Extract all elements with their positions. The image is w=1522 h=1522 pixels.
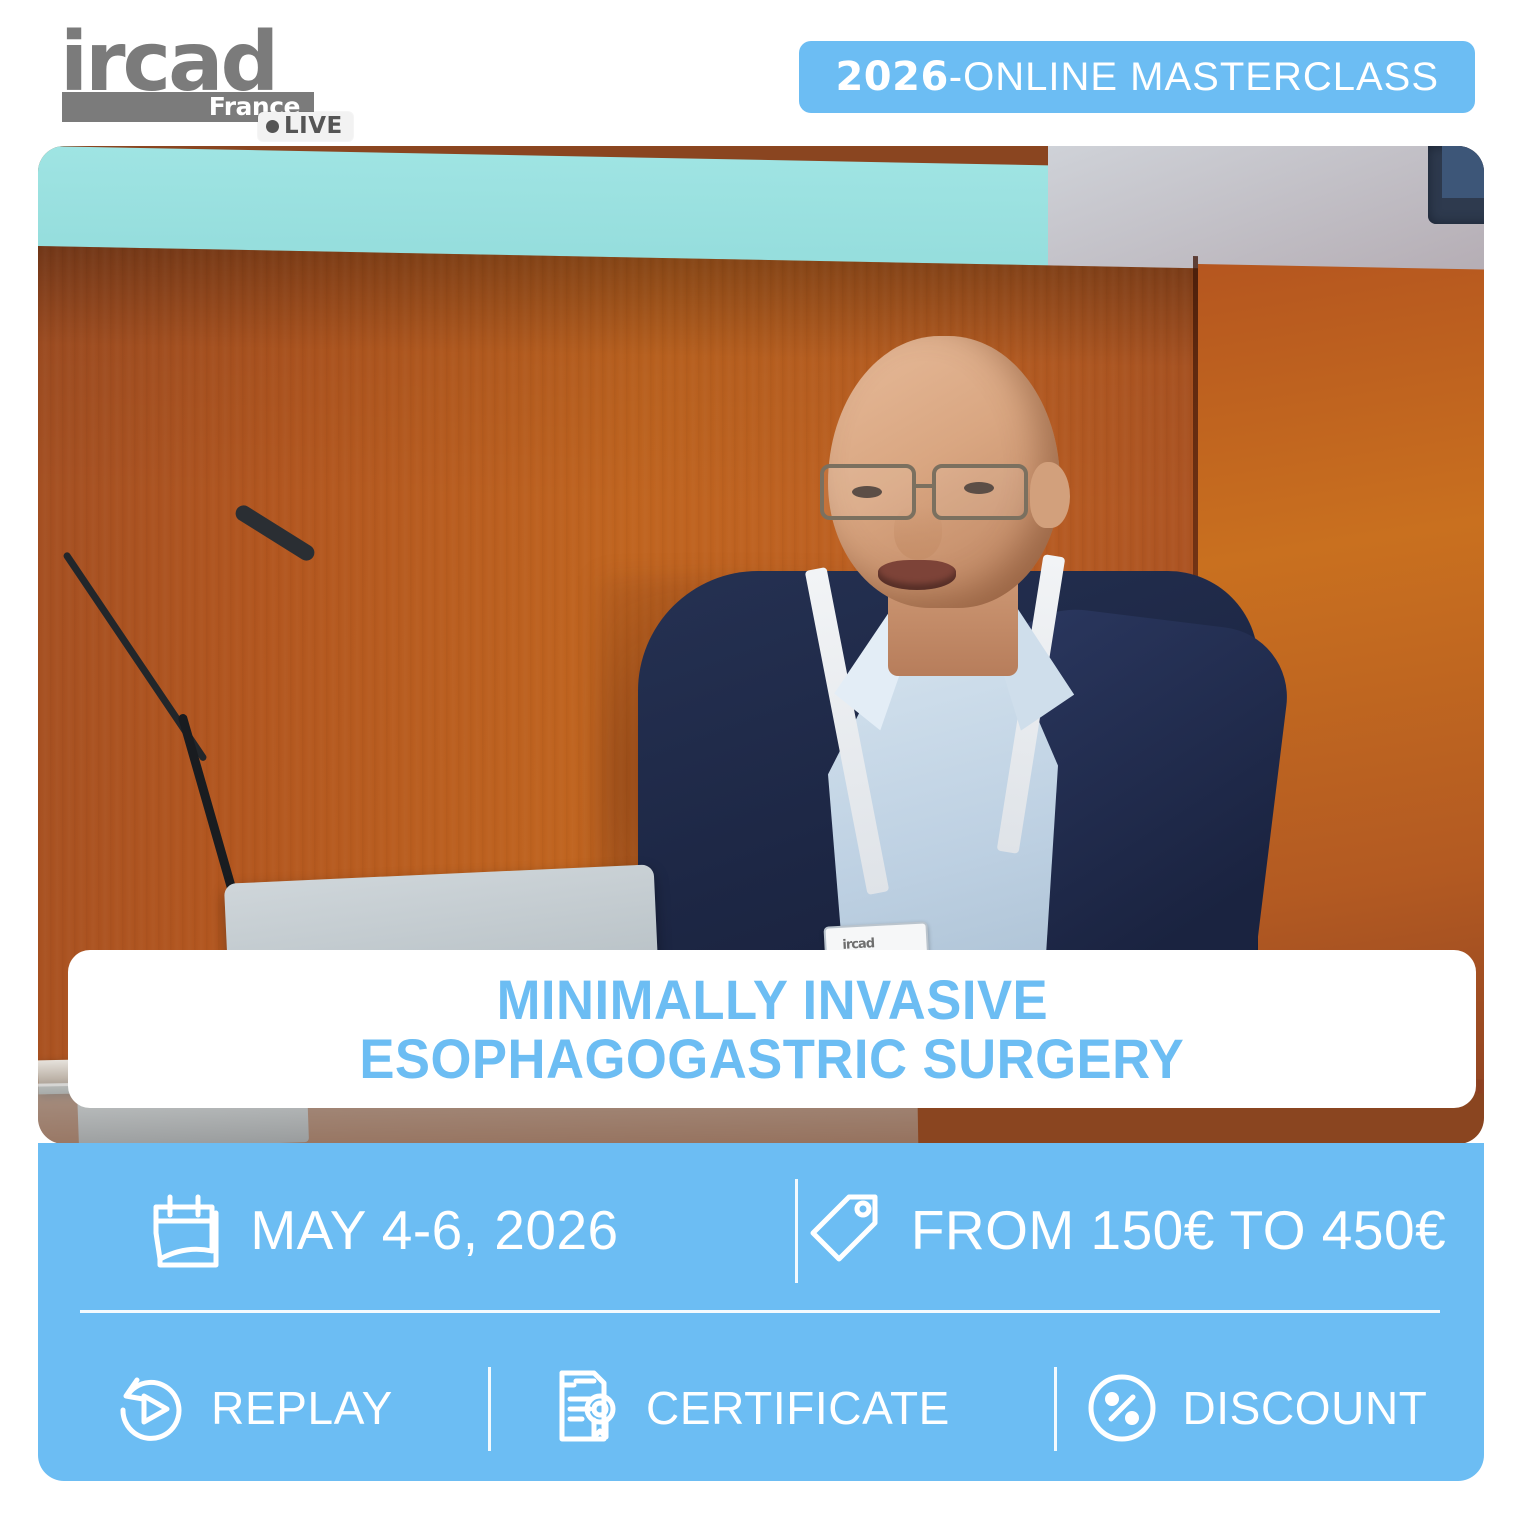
microphone [68,551,308,881]
feature-replay-label: REPLAY [211,1381,393,1435]
badge-title: ONLINE MASTERCLASS [963,55,1439,100]
dot-icon [266,120,279,133]
course-title-card: MINIMALLY INVASIVE ESOPHAGOGASTRIC SURGE… [68,950,1476,1108]
calendar-icon [146,1189,224,1271]
features-row: REPLAY CERTIFICATE [38,1348,1484,1468]
feature-replay: REPLAY [38,1348,468,1468]
live-label: LIVE [284,115,343,138]
poster: ircad France LIVE 2026 - ONLINE MASTERCL… [0,0,1522,1522]
course-title-line-2: ESOPHAGOGASTRIC SURGERY [360,1029,1185,1088]
feature-discount-label: DISCOUNT [1182,1381,1427,1435]
badge-year: 2026 [835,54,948,100]
live-badge: LIVE [258,112,353,141]
masterclass-badge: 2026 - ONLINE MASTERCLASS [799,41,1475,113]
info-top-row: MAY 4-6, 2026 FROM 150€ TO 450€ [38,1165,1484,1295]
certificate-icon [546,1367,624,1449]
replay-icon [113,1370,189,1446]
horizontal-divider [80,1310,1440,1313]
speaker-mouth [878,560,956,590]
eyeglass-lens-left [820,464,916,520]
feature-certificate-label: CERTIFICATE [646,1381,950,1435]
microphone-stem [177,713,238,898]
date-info: MAY 4-6, 2026 [38,1165,757,1295]
feature-divider-2 [1054,1367,1057,1451]
feature-divider-1 [488,1367,491,1451]
vertical-divider [795,1179,798,1283]
badge-separator: - [949,55,963,100]
feature-certificate: CERTIFICATE [468,1348,1028,1468]
course-title-line-1: MINIMALLY INVASIVE [496,970,1048,1029]
ircad-logo[interactable]: ircad France LIVE [60,26,340,122]
discount-percent-icon [1084,1370,1160,1446]
eyeglass-lens-right [932,464,1028,520]
price-text: FROM 150€ TO 450€ [911,1198,1446,1262]
header: ircad France LIVE 2026 - ONLINE MASTERCL… [0,0,1522,142]
date-text: MAY 4-6, 2026 [250,1198,618,1262]
wall-monitor [1428,146,1484,224]
eyeglasses [820,464,1070,524]
wall-monitor-screen [1442,146,1484,198]
price-tag-icon [803,1189,885,1271]
feature-discount: DISCOUNT [1028,1348,1484,1468]
price-info: FROM 150€ TO 450€ [757,1165,1476,1295]
